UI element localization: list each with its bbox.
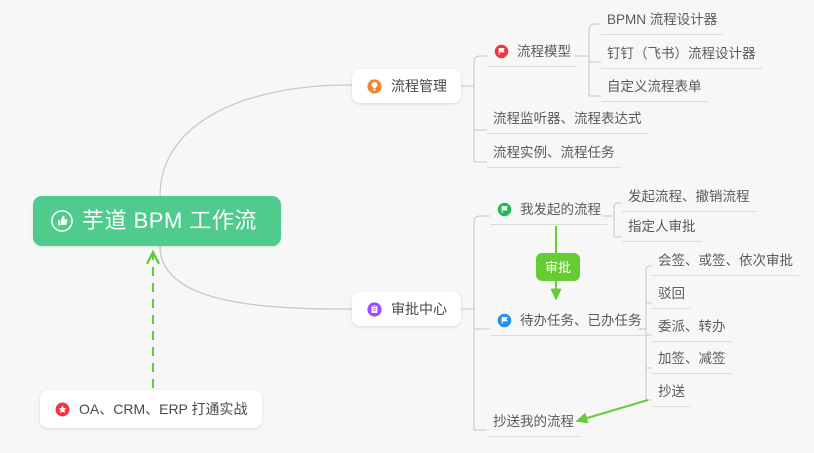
leaf-label-bpmn-designer: BPMN 流程设计器 [607, 13, 717, 27]
link-mine-vertical [614, 203, 622, 237]
node-custom-process-form[interactable]: 自定义流程表单 [601, 76, 708, 102]
leaf-label-carbon-copy: 抄送 [658, 385, 685, 399]
node-add-remove-sign[interactable]: 加签、减签 [652, 348, 732, 374]
node-cc-to-me-process[interactable]: 抄送我的流程 [487, 411, 580, 437]
node-delegate-transfer[interactable]: 委派、转办 [652, 316, 732, 342]
node-process-model[interactable]: 流程模型 [487, 41, 577, 67]
approval-tag[interactable]: 审批 [536, 253, 580, 281]
node-listener-expression[interactable]: 流程监听器、流程表达式 [487, 108, 648, 134]
star-circle-icon [54, 401, 71, 418]
approval-tag-label: 审批 [545, 261, 571, 274]
leaf-label-assignee-approval: 指定人审批 [628, 220, 696, 234]
link-root-to-approval-center [160, 246, 352, 309]
link-pm-vertical [474, 56, 487, 162]
node-reject[interactable]: 驳回 [652, 283, 691, 309]
leaf-label-reject: 驳回 [658, 287, 685, 301]
leaf-label-custom-process-form: 自定义流程表单 [607, 80, 702, 94]
node-bpmn-designer[interactable]: BPMN 流程设计器 [601, 9, 723, 35]
root-node[interactable]: 芋道 BPM 工作流 [33, 196, 281, 246]
leaf-label-listener-expression: 流程监听器、流程表达式 [493, 112, 642, 126]
node-start-cancel-process[interactable]: 发起流程、撤销流程 [622, 186, 756, 212]
branch-label-approval-center: 审批中心 [391, 302, 447, 316]
node-todo-done-tasks[interactable]: 待办任务、已办任务 [490, 310, 648, 336]
node-oa-crm-erp[interactable]: OA、CRM、ERP 打通实战 [40, 390, 262, 428]
link-ac-vertical [474, 216, 490, 430]
flag-circle-icon [496, 201, 513, 218]
leaf-label-delegate-transfer: 委派、转办 [658, 320, 726, 334]
flag-circle-icon [496, 312, 513, 329]
leaf-label-process-model: 流程模型 [517, 45, 571, 59]
label-oa-crm-erp: OA、CRM、ERP 打通实战 [79, 402, 248, 416]
leaf-label-dingtalk-feishu-designer: 钉钉（飞书）流程设计器 [607, 47, 756, 61]
leaf-label-instance-task: 流程实例、流程任务 [493, 146, 615, 160]
clipboard-circle-icon [366, 301, 383, 318]
lightbulb-icon [366, 78, 383, 95]
branch-label-process-management: 流程管理 [391, 79, 447, 93]
flag-circle-icon [493, 43, 510, 60]
mindmap-canvas: 芋道 BPM 工作流 流程管理 流程模型 BPMN 流程设计器 钉钉（飞书）流程… [0, 0, 814, 453]
arrow-cc-flow [577, 400, 648, 421]
node-dingtalk-feishu-designer[interactable]: 钉钉（飞书）流程设计器 [601, 43, 762, 69]
node-instance-task[interactable]: 流程实例、流程任务 [487, 142, 621, 168]
root-label: 芋道 BPM 工作流 [82, 210, 257, 232]
leaf-label-todo-done-tasks: 待办任务、已办任务 [520, 314, 642, 328]
leaf-label-countersign-or-sequential: 会签、或签、依次审批 [658, 254, 793, 268]
thumbs-up-icon [51, 210, 73, 232]
node-countersign-or-sequential[interactable]: 会签、或签、依次审批 [652, 250, 799, 276]
branch-process-management[interactable]: 流程管理 [352, 69, 461, 103]
link-model-vertical [589, 24, 601, 96]
node-my-initiated-process[interactable]: 我发起的流程 [490, 199, 607, 225]
leaf-label-my-initiated-process: 我发起的流程 [520, 203, 601, 217]
leaf-label-cc-to-me-process: 抄送我的流程 [493, 415, 574, 429]
link-root-to-process-management [160, 85, 352, 196]
branch-approval-center[interactable]: 审批中心 [352, 292, 461, 326]
leaf-label-start-cancel-process: 发起流程、撤销流程 [628, 190, 750, 204]
node-assignee-approval[interactable]: 指定人审批 [622, 216, 702, 242]
node-carbon-copy[interactable]: 抄送 [652, 381, 691, 407]
leaf-label-add-remove-sign: 加签、减签 [658, 352, 726, 366]
